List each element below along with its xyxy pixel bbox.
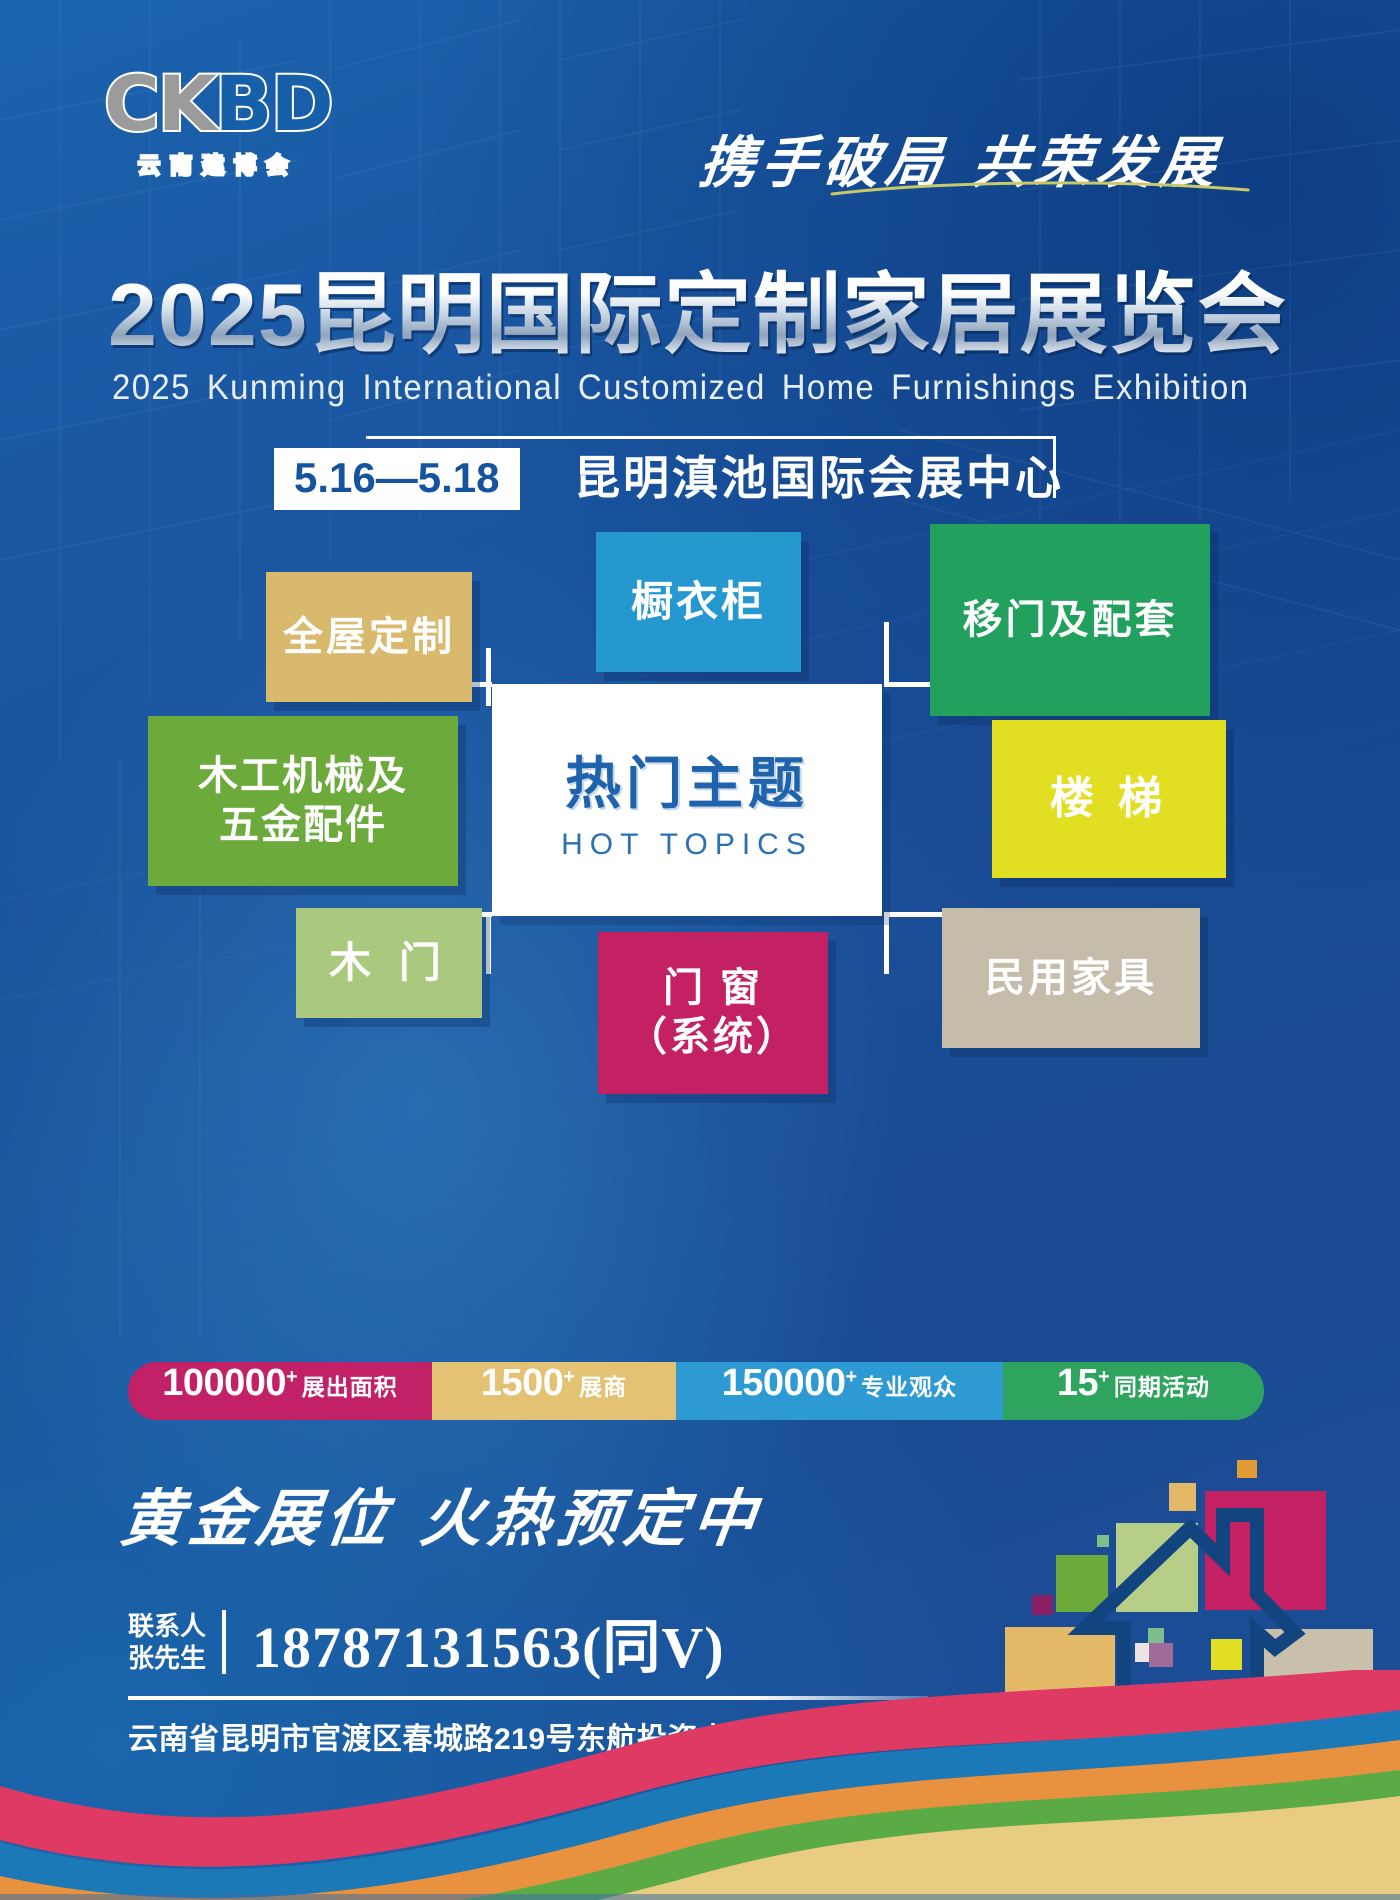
page-title: 2025昆明国际定制家居展览会 (108, 244, 1287, 371)
topic-box-stairs[interactable]: 楼 梯 (992, 720, 1226, 878)
connector-tick-top-right (884, 622, 889, 686)
stat-label: 同期活动 (1114, 1368, 1210, 1402)
topic-box-woodworking-machinery[interactable]: 木工机械及 五金配件 (148, 716, 458, 886)
topic-box-door-window-system[interactable]: 门 窗 （系统） (598, 932, 828, 1094)
topic-label: 木 门 (329, 937, 449, 988)
topic-box-residential-furniture[interactable]: 民用家具 (942, 908, 1200, 1048)
topic-label: 民用家具 (985, 954, 1157, 1003)
stat-plus: + (845, 1366, 857, 1389)
stat-number: 150000 (722, 1362, 846, 1405)
connector-tick-bot-right (884, 914, 889, 974)
contact-person-label: 联系人 张先生 (128, 1610, 226, 1674)
stat-plus: + (1098, 1366, 1110, 1389)
stat-label: 专业观众 (861, 1368, 957, 1402)
statistics-bar: 100000+展出面积 1500+展商 150000+专业观众 15+同期活动 (128, 1362, 1264, 1420)
slogan-block: 携手破局 共荣发展 (700, 118, 1260, 190)
logo-wordmark: CKBD (104, 62, 354, 146)
hot-topics-center-card: 热门主题 HOT TOPICS (492, 684, 882, 916)
logo-ck-text: CK (104, 59, 215, 148)
stat-item-events: 15+同期活动 (1003, 1362, 1264, 1420)
topic-box-wooden-door[interactable]: 木 门 (296, 908, 482, 1018)
slogan-brush-underline (830, 178, 1250, 200)
stat-item-area: 100000+展出面积 (128, 1362, 432, 1420)
logo-bd-text: BD (215, 59, 332, 148)
bottom-wave-decoration (0, 1670, 1400, 1900)
topic-box-whole-house-custom[interactable]: 全屋定制 (266, 572, 472, 702)
stat-label: 展商 (579, 1368, 627, 1402)
cta-headline: 黄金展位 火热预定中 (116, 1468, 767, 1558)
topic-label: 橱衣柜 (631, 576, 766, 627)
stat-number: 100000 (162, 1362, 286, 1405)
poster-canvas: CKBD 云南建博会 携手破局 共荣发展 2025昆明国际定制家居展览会 202… (0, 0, 1400, 1900)
ckbd-logo: CKBD 云南建博会 (104, 62, 354, 177)
stat-plus: + (286, 1366, 298, 1389)
hot-topics-title-cn: 热门主题 (565, 739, 809, 820)
contact-label-line1: 联系人 (128, 1610, 206, 1642)
stat-item-visitors: 150000+专业观众 (676, 1362, 1003, 1420)
page-subtitle-english: 2025KunmingInternationalCustomizedHomeFu… (112, 368, 1281, 408)
stat-number: 15 (1057, 1362, 1098, 1405)
connector-tick-bot-left (486, 914, 491, 974)
date-badge: 5.16—5.18 (274, 448, 520, 510)
topic-label: 楼 梯 (1050, 772, 1168, 826)
topic-label: 木工机械及 五金配件 (198, 752, 408, 850)
subtitle-word: 2025KunmingInternationalCustomizedHomeFu… (112, 368, 1265, 407)
stat-plus: + (563, 1366, 575, 1389)
stat-item-exhibitors: 1500+展商 (432, 1362, 676, 1420)
hot-topics-grid: 热门主题 HOT TOPICS 全屋定制 橱衣柜 移门及配套 木工机械及 五金配… (0, 600, 1400, 1300)
topic-label: 移门及配套 (963, 596, 1178, 645)
stat-number: 1500 (481, 1362, 564, 1405)
stat-label: 展出面积 (302, 1368, 398, 1402)
hot-topics-title-en: HOT TOPICS (561, 828, 813, 862)
topic-box-sliding-door[interactable]: 移门及配套 (930, 524, 1210, 716)
logo-subtitle: 云南建博会 (104, 148, 332, 180)
topic-label: 门 窗 （系统） (627, 964, 799, 1062)
topic-label: 全屋定制 (283, 613, 455, 662)
connector-tick-top-left (486, 648, 491, 706)
venue-name: 昆明滇池国际会展中心 (574, 446, 1064, 510)
date-venue-row: 5.16—5.18 昆明滇池国际会展中心 (274, 448, 1074, 514)
topic-box-cabinet-wardrobe[interactable]: 橱衣柜 (596, 532, 801, 672)
